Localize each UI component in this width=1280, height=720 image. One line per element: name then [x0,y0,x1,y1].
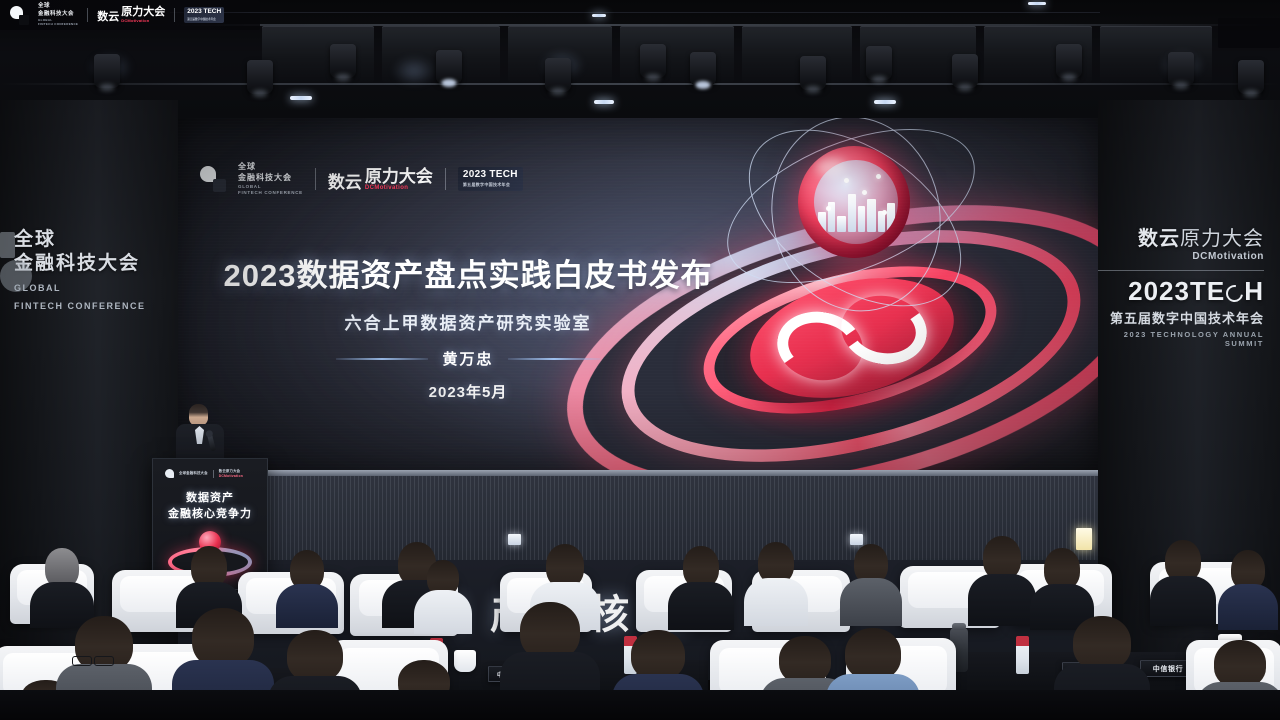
stage-spotlight [330,44,356,78]
right-wall-divider [1096,270,1264,271]
right-wall-brand-en: DCMotivation [1096,251,1264,262]
audience-person [414,560,472,630]
logo-divider [315,168,316,190]
presenter-name: 黄万忠 [442,348,493,369]
watermark-brand-cn2: 原力大会 [121,7,165,18]
watermark-brand-cn: 数云 [97,12,119,23]
podium-title-block: 数据资产 金融核心竞争力 [153,491,267,523]
broadcast-watermark: 全球 金融科技大会 GLOBAL FINTECH CONFERENCE 数云 原… [0,0,250,30]
city-sphere [798,146,910,258]
title-rule-right [508,358,600,360]
watermark-divider [87,8,88,22]
stage-spotlight [1238,60,1264,94]
right-wall-summit-cn: 第五届数字中国技术年会 [1096,308,1264,327]
right-wall-branding: 数云原力大会 DCMotivation 2023TEH 第五届数字中国技术年会 … [1096,228,1264,348]
right-wall-year: 2023 [1128,276,1190,306]
ceiling-led-bar [594,100,614,104]
right-wall-tech-pre: TE [1190,276,1225,306]
audience-person [30,548,94,626]
stage-spotlight [1168,52,1194,86]
audience-person [1150,540,1216,626]
podium-logo-right-cn: 数云原力大会 [219,469,243,473]
screen-header-logos: 全球 金融科技大会 GLOBAL FINTECH CONFERENCE 数云 原… [200,162,523,196]
right-wall-brand-cn-thin: 原力大会 [1180,228,1264,250]
watermark-tech-year: 2023 TECH [187,9,221,16]
eyeglasses-icon [72,656,92,666]
swirl-c-icon [1223,282,1247,306]
nameplate-label: 中信银行 [1153,664,1183,674]
audience-person [1218,550,1278,628]
watermark-tech-badge: 2023 TECH 第五届数字中国技术年会 [184,7,224,23]
fintech-cube-logo-icon [200,166,226,192]
presentation-title: 2023数据资产盘点实践白皮书发布 [218,250,718,295]
water-bottle [1016,636,1029,674]
stage-spotlight [866,46,892,80]
ceiling-led-bar [592,14,606,17]
screen-tech-badge: 2023 TECH 第五届数字中国技术年会 [458,167,523,191]
podium-logo-cn: 全球金融科技大会 [179,471,208,475]
audience-person [744,542,808,626]
stage-spotlight [545,58,571,92]
watermark-tech-sub: 第五届数字中国技术年会 [187,17,221,21]
screen-title-block: 2023数据资产盘点实践白皮书发布 六合上甲数据资产研究实验室 黄万忠 2023… [218,250,718,402]
watermark-org-cn-line1: 全球 [38,3,78,10]
ceiling-led-bar [290,96,312,100]
truss-bay [262,26,374,82]
stage-spotlight [640,44,666,78]
truss-bay [742,26,852,82]
stage-spotlight [800,56,826,90]
stage-spotlight [94,54,120,88]
podium-logo-row: 全球金融科技大会 数云原力大会 DCMotivation [165,469,243,478]
screen-org-cn-line2: 金融科技大会 [238,173,303,184]
left-wall-branding: 全球 金融科技大会 GLOBAL FINTECH CONFERENCE [14,228,174,314]
ceiling-led-bar [874,100,896,104]
title-rule-left [336,358,428,360]
audience-person [668,546,734,628]
screen-tech-year: 2023 TECH [463,170,518,180]
podium-title-line1: 数据资产 [153,491,267,507]
fintech-cube-logo-icon [165,469,174,478]
audience-person [968,536,1036,626]
stage-spotlight [690,52,716,86]
conference-stage-scene: 全球 金融科技大会 GLOBAL FINTECH CONFERENCE 数云原力… [0,0,1280,720]
fintech-cube-logo-icon [10,6,29,25]
screen-brand-cn2: 原力大会 [365,168,433,185]
right-wall-summit-en: 2023 TECHNOLOGY ANNUAL SUMMIT [1096,330,1264,348]
eyeglasses-icon [94,656,114,666]
stage-spotlight [952,54,978,88]
foreground-floor [0,690,1280,720]
left-wall-en-line2: FINTECH CONFERENCE [14,300,174,314]
screen-org-en-line2: FINTECH CONFERENCE [238,190,303,196]
stage-spotlight [247,60,273,94]
watermark-org-cn-line2: 金融科技大会 [38,11,78,18]
watermark-divider [174,8,175,22]
screen-org-cn-line1: 全球 [238,162,303,173]
speaker-person [176,404,224,466]
truss-bay [620,26,734,82]
audience-person [276,550,338,626]
watermark-org-en-line2: FINTECH CONFERENCE [38,22,78,26]
stage-spotlight [436,50,462,84]
right-wall-tech-post: H [1244,276,1264,306]
right-wall-brand-cn: 数云 [1138,228,1180,250]
watermark-brand-en: DCMotivation [121,18,165,23]
podium-logo-right-en: DCMotivation [219,474,243,478]
stage-light-glow [392,56,436,86]
stage-spotlight [1056,44,1082,78]
logo-divider [445,168,446,190]
audience-person [840,544,902,626]
presentation-date: 2023年5月 [218,381,718,402]
presentation-subtitle: 六合上甲数据资产研究实验室 [218,309,718,334]
main-led-screen: 全球 金融科技大会 GLOBAL FINTECH CONFERENCE 数云 原… [178,118,1098,470]
screen-tech-sub: 第五届数字中国技术年会 [463,182,518,188]
screen-brand-cn: 数云 [328,174,362,191]
ceiling-led-bar [1028,2,1046,5]
ceiling-recess [1218,18,1280,48]
fintech-cube-logo-icon [0,232,46,296]
